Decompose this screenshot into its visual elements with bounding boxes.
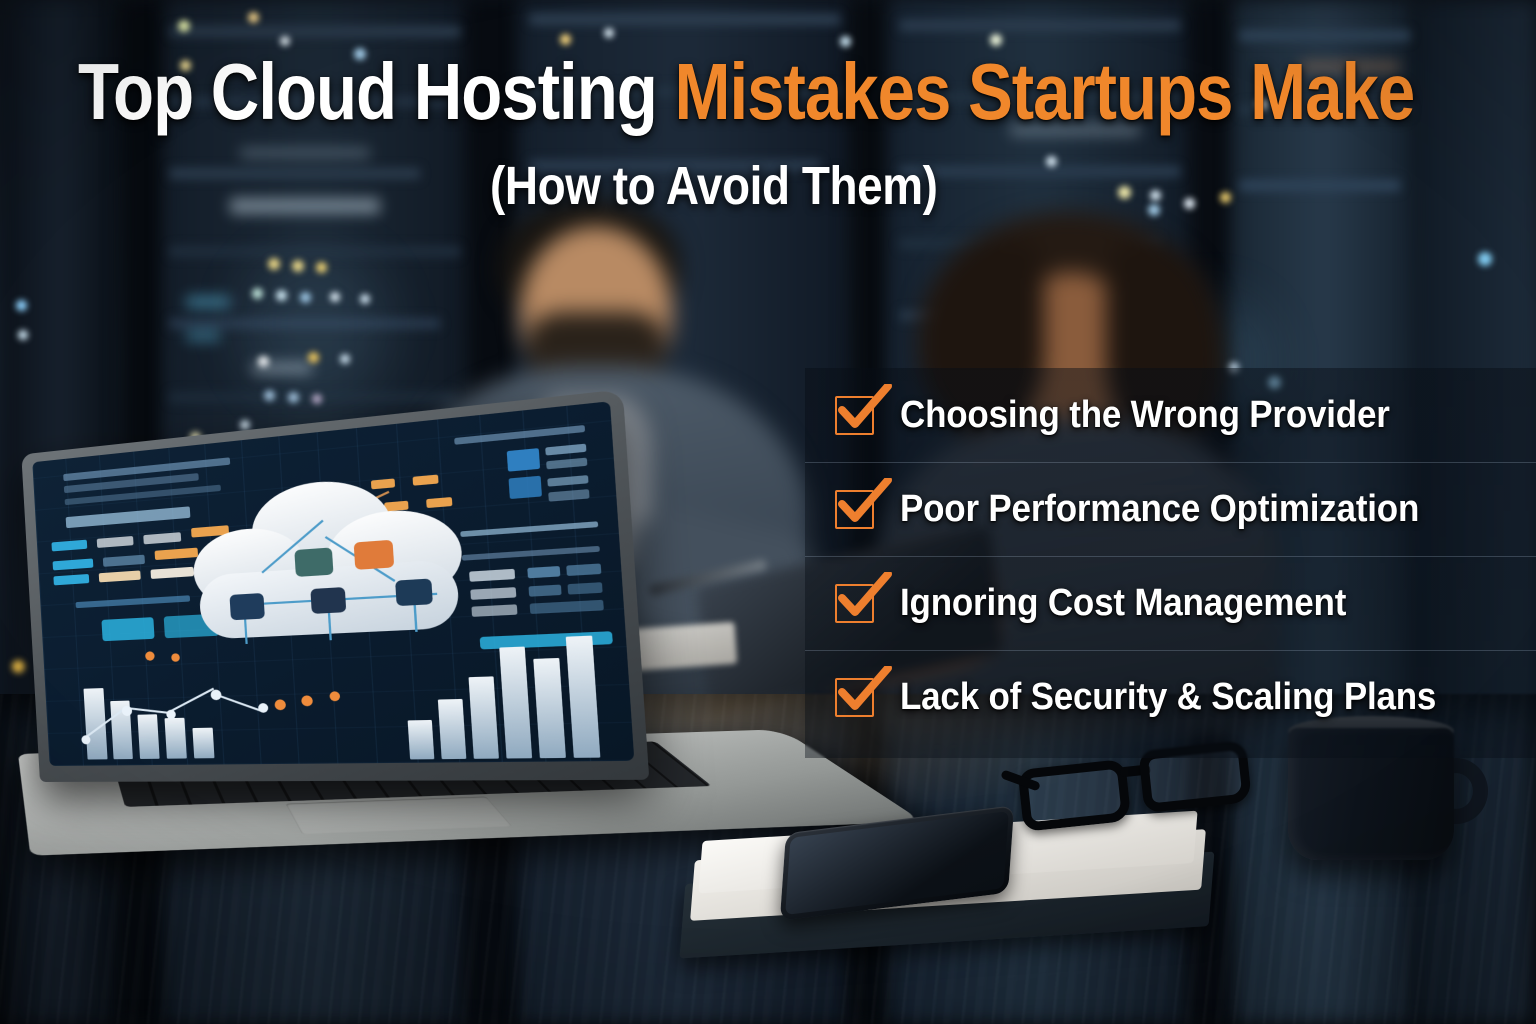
checklist-item-3[interactable]: Ignoring Cost Management	[805, 556, 1536, 650]
checkbox-checked-icon[interactable]	[835, 396, 874, 435]
checkbox-checked-icon[interactable]	[835, 490, 874, 529]
laptop-lid	[21, 389, 649, 782]
checkbox-checked-icon[interactable]	[835, 584, 874, 623]
headline-orange-part: Mistakes Startups Make	[674, 47, 1414, 136]
page-subtitle: (How to Avoid Them)	[490, 155, 937, 217]
page-title: Top Cloud Hosting Mistakes Startups Make	[78, 52, 1254, 132]
checklist-item-label: Lack of Security & Scaling Plans	[900, 676, 1436, 719]
headline-white-part: Top Cloud Hosting	[78, 47, 674, 136]
checklist-item-label: Ignoring Cost Management	[900, 582, 1346, 625]
lens-left	[1017, 759, 1131, 832]
checklist-item-4[interactable]: Lack of Security & Scaling Plans	[805, 650, 1536, 744]
poster-canvas: Top Cloud Hosting Mistakes Startups Make…	[0, 0, 1536, 1024]
checklist-item-2[interactable]: Poor Performance Optimization	[805, 462, 1536, 556]
checklist-item-label: Choosing the Wrong Provider	[900, 394, 1390, 437]
checkbox-checked-icon[interactable]	[835, 678, 874, 717]
trackpad	[285, 796, 512, 834]
laptop-screen	[32, 401, 634, 766]
checklist-item-1[interactable]: Choosing the Wrong Provider	[805, 368, 1536, 462]
cloud-network-icon	[189, 469, 467, 646]
checklist-item-label: Poor Performance Optimization	[900, 488, 1419, 531]
mistakes-checklist-panel: Choosing the Wrong Provider Poor Perform…	[805, 368, 1536, 758]
bar-chart-right	[398, 622, 600, 760]
line-chart	[74, 661, 412, 754]
